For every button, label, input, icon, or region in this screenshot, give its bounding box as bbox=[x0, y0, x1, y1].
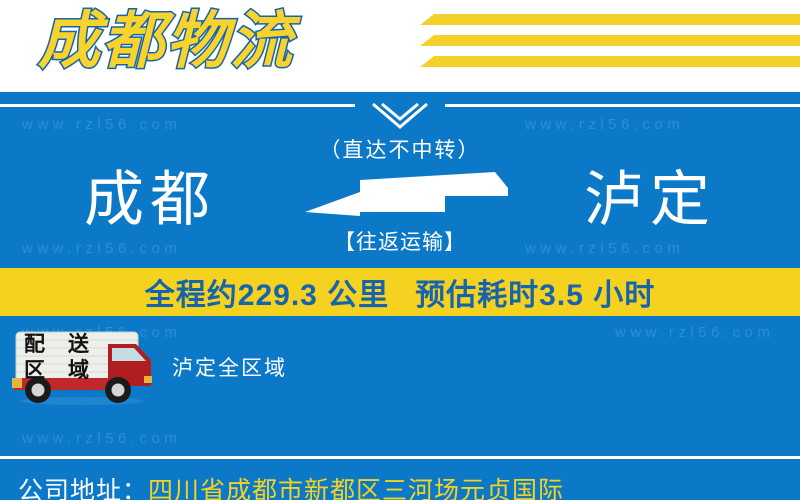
delivery-region-text: 泸定全区域 bbox=[172, 352, 287, 382]
header-stripes-decoration bbox=[420, 14, 800, 76]
watermark-4: www.rzl56.com bbox=[525, 240, 684, 257]
poster-header: 成都物流 bbox=[0, 0, 800, 92]
duration-text: 预估耗时3.5 小时 bbox=[415, 270, 655, 314]
watermark-2: www.rzl56.com bbox=[525, 116, 684, 133]
address-label: 公司地址： bbox=[18, 471, 148, 500]
watermark-7: www.rzl56.com bbox=[22, 430, 181, 447]
truck-char-2: 送 bbox=[68, 332, 89, 356]
page-title: 成都物流 bbox=[38, 2, 294, 82]
route-note-top: （直达不中转） bbox=[280, 134, 520, 164]
truck-char-3: 区 bbox=[24, 358, 45, 382]
divider-bottom bbox=[0, 456, 800, 459]
stripe-1 bbox=[420, 14, 800, 25]
route-note-bottom: 【往返运输】 bbox=[280, 226, 520, 256]
stripe-2 bbox=[420, 35, 800, 46]
double-chevron-down-icon bbox=[355, 93, 445, 129]
logistics-poster: 成都物流 www.rzl56.com www.rzl56.com 成都 （直达不… bbox=[0, 0, 800, 500]
company-address: 公司地址： 四川省成都市新都区三河场元贞国际 bbox=[0, 469, 800, 500]
route-middle: （直达不中转） 【往返运输】 bbox=[280, 134, 520, 284]
watermark-3: www.rzl56.com bbox=[22, 240, 181, 257]
destination-city: 泸定 bbox=[520, 152, 780, 248]
truck-char-4: 域 bbox=[68, 358, 89, 382]
truck-box-label: 配 送 区 域 bbox=[24, 332, 136, 382]
bidirectional-arrow-icon bbox=[290, 170, 510, 222]
distance-text: 全程约229.3 公里 bbox=[145, 270, 389, 314]
stripe-3 bbox=[420, 56, 800, 67]
delivery-section: 配 送 区 域 泸定全区域 bbox=[0, 328, 800, 418]
truck-char-1: 配 bbox=[24, 332, 45, 356]
poster-body: www.rzl56.com www.rzl56.com 成都 （直达不中转） 【… bbox=[0, 92, 800, 500]
watermark-1: www.rzl56.com bbox=[22, 116, 181, 133]
address-value: 四川省成都市新都区三河场元贞国际 bbox=[148, 471, 564, 500]
distance-bar: 全程约229.3 公里 预估耗时3.5 小时 bbox=[0, 268, 800, 316]
delivery-truck-icon: 配 送 区 域 bbox=[8, 328, 158, 406]
origin-city: 成都 bbox=[20, 152, 280, 248]
